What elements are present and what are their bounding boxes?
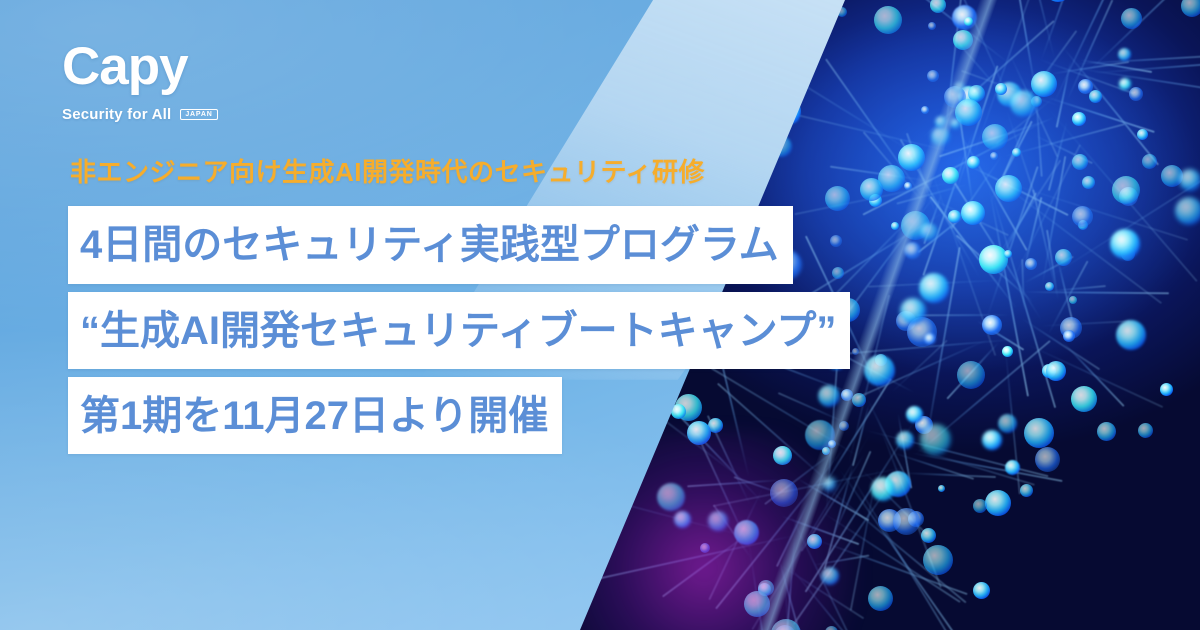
headline-line-2: “生成AI開発セキュリティブートキャンプ” xyxy=(80,311,836,351)
headline-band-1: 4日間のセキュリティ実践型プログラム xyxy=(68,206,793,284)
logo-country-badge: JAPAN xyxy=(180,109,217,121)
logo-tagline: Security for All xyxy=(62,106,171,123)
logo-subline: Security for All JAPAN xyxy=(62,106,302,123)
hero-eyebrow: 非エンジニア向け生成AI開発時代のセキュリティ研修 xyxy=(70,152,705,189)
capy-logo[interactable]: Capy Security for All JAPAN xyxy=(62,40,302,123)
logo-wordmark: Capy xyxy=(62,40,302,93)
headline-band-3: 第1期を11月27日より開催 xyxy=(68,377,562,454)
headline-line-1: 4日間のセキュリティ実践型プログラム xyxy=(80,225,779,265)
headline-line-3: 第1期を11月27日より開催 xyxy=(80,396,548,436)
headline-band-2: “生成AI開発セキュリティブートキャンプ” xyxy=(68,292,850,369)
hero-banner: Capy Security for All JAPAN 非エンジニア向け生成AI… xyxy=(0,0,1200,630)
